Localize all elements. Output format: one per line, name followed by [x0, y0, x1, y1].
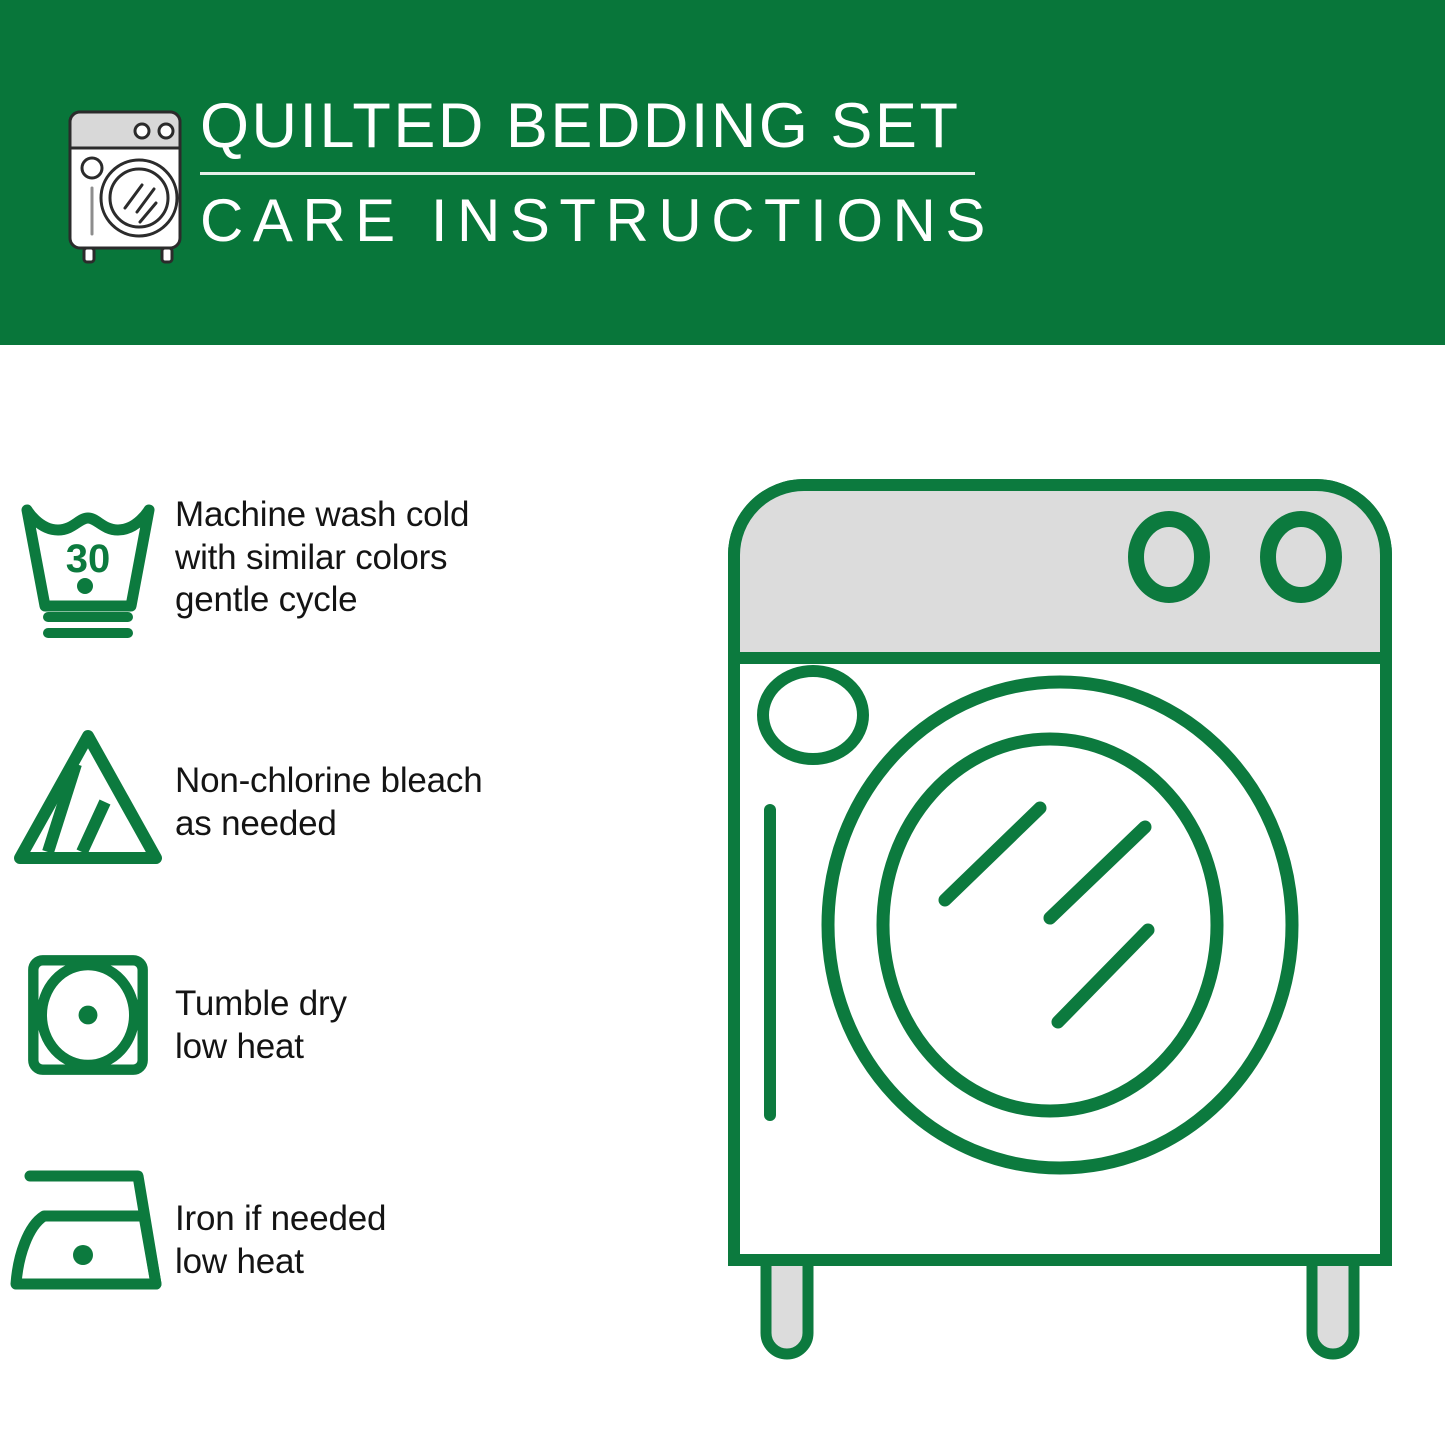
washer-knob-right [1268, 519, 1334, 595]
care-line: as needed [175, 803, 483, 846]
wash-temperature-label: 30 [65, 537, 110, 581]
header-banner: QUILTED BEDDING SET CARE INSTRUCTIONS [0, 0, 1445, 345]
front-load-washing-machine-illustration [720, 470, 1400, 1370]
washer-knob-left [1136, 519, 1202, 595]
care-instruction-text: Tumble dry low heat [175, 945, 347, 1068]
wash-basin-30-gentle-icon: 30 [0, 490, 175, 639]
iron-low-heat-icon [0, 1160, 175, 1294]
care-line: with similar colors [175, 537, 469, 580]
washer-foot-right [1312, 1255, 1354, 1354]
triangle-non-chlorine-bleach-icon [0, 720, 175, 869]
tumble-dry-low-heat-icon [0, 945, 175, 1081]
care-line: low heat [175, 1241, 386, 1284]
care-instruction-text: Non-chlorine bleach as needed [175, 720, 483, 845]
header-text-block: QUILTED BEDDING SET CARE INSTRUCTIONS [200, 95, 990, 251]
header-divider [200, 172, 975, 175]
page-title: QUILTED BEDDING SET [200, 95, 990, 158]
care-instruction-row: Iron if needed low heat [0, 1160, 700, 1294]
care-instruction-text: Machine wash cold with similar colors ge… [175, 490, 469, 622]
washer-drum-inner [883, 739, 1217, 1111]
care-instruction-row: Non-chlorine bleach as needed [0, 720, 700, 869]
care-line: Non-chlorine bleach [175, 760, 483, 803]
washer-indicator-light [763, 671, 863, 759]
care-instruction-text: Iron if needed low heat [175, 1160, 386, 1283]
page-subtitle: CARE INSTRUCTIONS [200, 191, 990, 251]
care-instruction-list: 30 Machine wash cold with similar colors… [0, 345, 700, 1445]
washer-foot-left [766, 1255, 808, 1354]
care-line: Tumble dry [175, 983, 347, 1026]
care-line: Machine wash cold [175, 494, 469, 537]
washing-machine-icon [62, 100, 198, 265]
care-instruction-row: 30 Machine wash cold with similar colors… [0, 490, 700, 639]
care-line: low heat [175, 1026, 347, 1069]
care-line: gentle cycle [175, 579, 469, 622]
care-instruction-row: Tumble dry low heat [0, 945, 700, 1081]
care-line: Iron if needed [175, 1198, 386, 1241]
